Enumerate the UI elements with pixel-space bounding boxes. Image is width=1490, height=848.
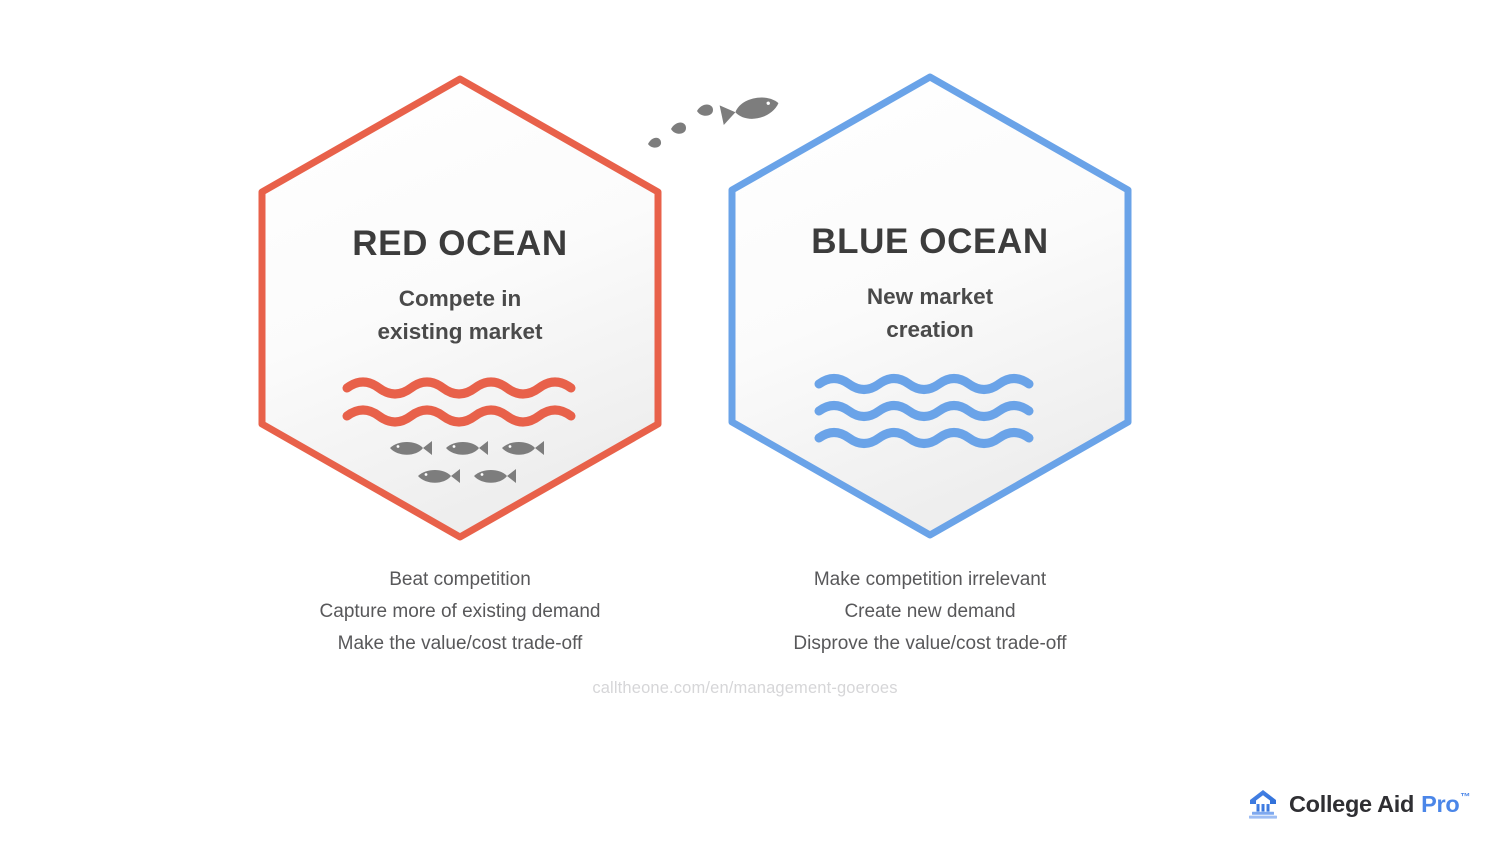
source-caption: calltheone.com/en/management-goeroes: [0, 679, 1490, 698]
bubble-small-icon: [648, 138, 661, 148]
trademark-symbol: ™: [1460, 792, 1470, 803]
red-ocean-bullet-list: Beat competition Capture more of existin…: [250, 564, 670, 660]
brand-logo: College Aid Pro ™: [1246, 787, 1470, 821]
list-item: Beat competition: [250, 564, 670, 596]
blue-ocean-subtitle-line1: New market: [867, 281, 993, 314]
red-waves-icon: [342, 374, 578, 426]
list-item: Capture more of existing demand: [250, 596, 670, 628]
red-ocean-hexagon-card: RED OCEAN Compete in existing market: [250, 74, 670, 542]
list-item: Disprove the value/cost trade-off: [720, 628, 1140, 660]
blue-ocean-bullet-list: Make competition irrelevant Create new d…: [720, 564, 1140, 660]
brand-name-primary: College Aid: [1289, 791, 1414, 818]
bubble-medium-icon: [671, 123, 686, 134]
red-ocean-subtitle: Compete in existing market: [377, 283, 542, 348]
red-ocean-subtitle-line1: Compete in: [377, 283, 542, 316]
red-ocean-subtitle-line2: existing market: [377, 316, 542, 349]
list-item: Make competition irrelevant: [720, 564, 1140, 596]
blue-ocean-title: BLUE OCEAN: [811, 224, 1048, 259]
blue-ocean-hexagon-card: BLUE OCEAN New market creation: [720, 72, 1140, 540]
list-item: Create new demand: [720, 596, 1140, 628]
red-ocean-title: RED OCEAN: [352, 226, 567, 261]
blue-waves-icon: [814, 371, 1046, 449]
blue-ocean-subtitle: New market creation: [867, 281, 993, 346]
slide-canvas: RED OCEAN Compete in existing market: [0, 0, 1490, 848]
brand-name: College Aid Pro ™: [1289, 791, 1470, 818]
college-building-icon: [1246, 787, 1280, 821]
red-ocean-fish-school-icon: [374, 434, 546, 496]
list-item: Make the value/cost trade-off: [250, 628, 670, 660]
bubble-large-icon: [697, 105, 713, 116]
blue-ocean-subtitle-line2: creation: [867, 314, 993, 347]
brand-name-accent: Pro: [1421, 791, 1459, 818]
